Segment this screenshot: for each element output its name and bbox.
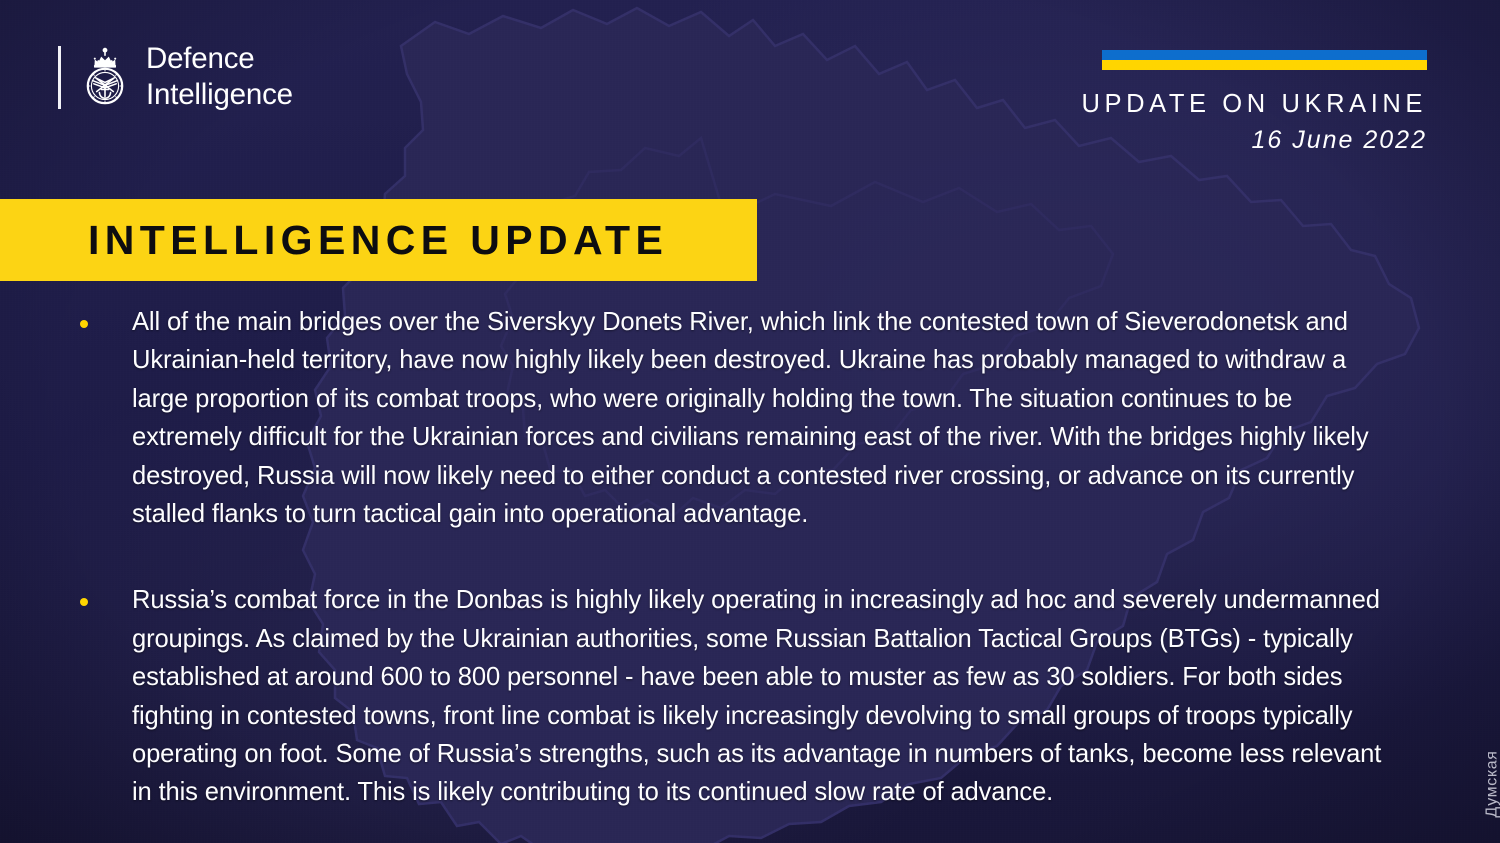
brand-name: Defence Intelligence — [146, 41, 293, 112]
header-date: 16 June 2022 — [1081, 126, 1427, 155]
banner-label: INTELLIGENCE UPDATE — [88, 217, 668, 264]
header-title: UPDATE ON UKRAINE — [1081, 90, 1427, 119]
bullet-dot-icon — [80, 320, 88, 328]
flag-stripe-yellow — [1102, 60, 1427, 70]
brand-divider-rule — [58, 46, 61, 109]
brand-line-defence: Defence — [146, 41, 293, 77]
header-title-block: UPDATE ON UKRAINE 16 June 2022 — [1081, 90, 1427, 155]
brand-line-intelligence: Intelligence — [146, 77, 293, 113]
watermark: Думская — [1464, 727, 1498, 837]
intelligence-update-slide: Defence Intelligence UPDATE ON UKRAINE 1… — [0, 0, 1500, 843]
bullet-list: All of the main bridges over the Siversk… — [80, 303, 1390, 812]
royal-crest-icon — [80, 46, 130, 108]
bullet-text: All of the main bridges over the Siversk… — [132, 303, 1390, 533]
flag-stripe-blue — [1102, 50, 1427, 60]
intelligence-update-banner: INTELLIGENCE UPDATE — [0, 199, 757, 281]
list-item: All of the main bridges over the Siversk… — [80, 303, 1390, 533]
ukraine-flag-bar-icon — [1102, 50, 1427, 70]
bullet-dot-icon — [80, 598, 88, 606]
watermark-text: Думская — [1483, 750, 1500, 817]
list-item: Russia’s combat force in the Donbas is h… — [80, 581, 1390, 811]
bullet-text: Russia’s combat force in the Donbas is h… — [132, 581, 1390, 811]
brand-lockup: Defence Intelligence — [58, 40, 293, 114]
